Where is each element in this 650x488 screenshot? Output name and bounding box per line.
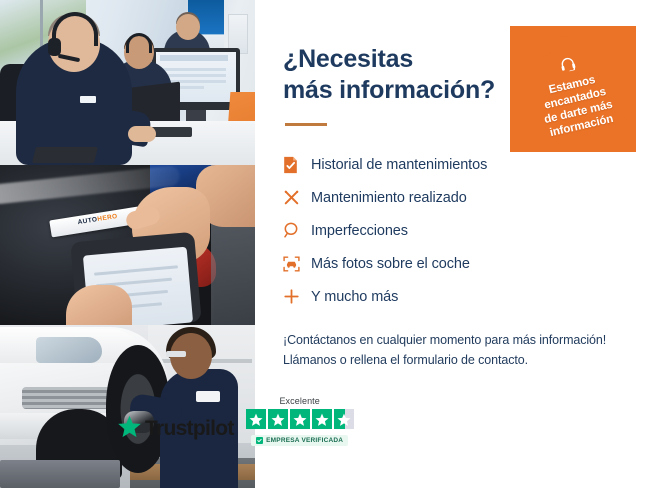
star-partial [334,409,354,429]
star-filled [268,409,288,429]
trustpilot-logo[interactable]: Trustpilot [118,415,234,446]
page-title: ¿Necesitas más información? [283,44,513,106]
feature-label: Historial de mantenimientos [311,157,487,173]
rating-label: Excelente [279,396,319,406]
trustpilot-rating: Excelente [246,396,354,446]
feature-item-much-more: Y mucho más [283,280,624,313]
tools-wrench-screwdriver-icon [283,189,311,206]
feature-item-imperfections: Imperfecciones [283,214,624,247]
document-check-icon [283,156,311,174]
plus-icon [283,288,311,305]
trustpilot-wordmark: Trustpilot [145,417,234,441]
promo-banner: AUTOHERO [0,0,650,488]
feature-item-more-photos: Más fotos sobre el coche [283,247,624,280]
verified-label: EMPRESA VERIFICADA [266,437,343,444]
contact-line-2: Llámanos o rellena el formulario de cont… [283,353,528,367]
car-photo-frame-icon [283,256,311,272]
trustpilot-widget[interactable]: Trustpilot Excelente [118,396,354,446]
call-center-agents-photo [0,0,255,165]
trustpilot-star-icon [118,415,141,442]
headline-line-2: más información? [283,76,495,104]
star-rating [246,409,354,429]
feature-list: Historial de mantenimientos Mantenimient… [283,148,624,313]
promo-badge: Estamos encantados de darte más informac… [510,26,636,152]
headset-icon [557,55,578,78]
feature-item-maintenance-done: Mantenimiento realizado [283,181,624,214]
contact-paragraph: ¡Contáctanos en cualquier momento para m… [283,330,624,371]
title-divider [285,123,327,126]
feature-label: Imperfecciones [311,223,408,239]
verified-badge: EMPRESA VERIFICADA [251,435,348,446]
check-icon [256,437,263,444]
star-filled [290,409,310,429]
star-filled [246,409,266,429]
headline-line-1: ¿Necesitas [283,45,413,73]
feature-label: Y mucho más [311,289,398,305]
feature-label: Más fotos sobre el coche [311,256,470,272]
badge-text: Estamos encantados de darte más informac… [537,70,618,140]
car-inspection-ruler-tablet-photo: AUTOHERO [0,165,255,325]
star-filled [312,409,332,429]
magnifier-icon [283,222,311,239]
contact-line-1: ¡Contáctanos en cualquier momento para m… [283,333,606,347]
feature-label: Mantenimiento realizado [311,190,467,206]
